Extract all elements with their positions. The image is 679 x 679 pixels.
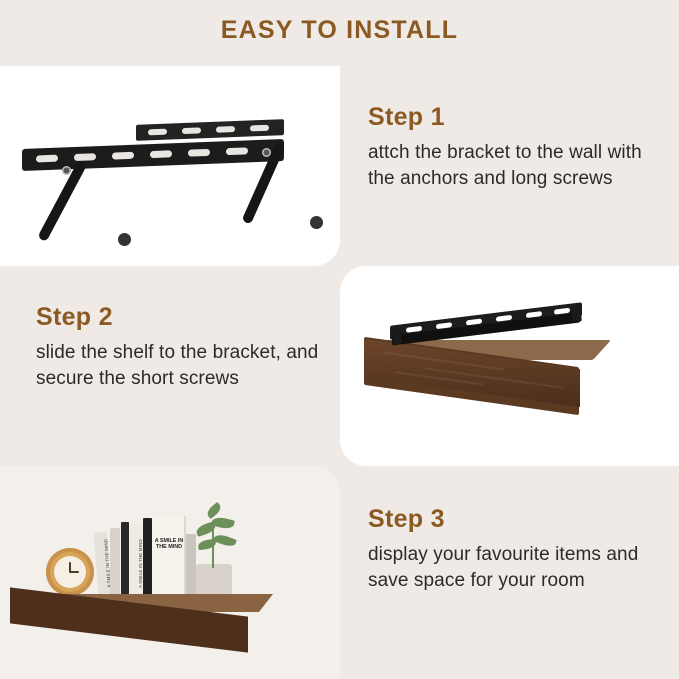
- step-1-heading: Step 1: [368, 103, 663, 132]
- bracket-arm-cap-left: [118, 233, 131, 246]
- step-3-image: A SMILE IN THE MIND A SMILE IN THE MIND …: [0, 466, 340, 679]
- plant-leaf-4: [213, 533, 237, 549]
- bracket-upper-rail: [136, 119, 284, 141]
- book-2: [110, 528, 120, 596]
- bracket-main-rail: [22, 139, 284, 171]
- step-2-heading: Step 2: [36, 303, 326, 332]
- bracket-arm-cap-right: [310, 216, 323, 229]
- infographic-page: EASY TO INSTALL: [0, 0, 679, 679]
- step-3-body: display your favourite items and save sp…: [368, 542, 668, 594]
- step-2-text: Step 2 slide the shelf to the bracket, a…: [36, 303, 326, 392]
- book-3: [121, 522, 129, 596]
- bracket-tab-right: [571, 306, 582, 323]
- bookend: [186, 534, 196, 596]
- step-2-body: slide the shelf to the bracket, and secu…: [36, 340, 326, 392]
- book-4: A SMILE IN THE MIND: [130, 524, 142, 596]
- step-3-text: Step 3 display your favourite items and …: [368, 505, 668, 594]
- table-clock: [46, 548, 94, 596]
- step-3-heading: Step 3: [368, 505, 668, 534]
- page-title: EASY TO INSTALL: [0, 16, 679, 45]
- clock-face: [54, 556, 86, 588]
- book-5: [143, 518, 152, 596]
- book-1: A SMILE IN THE MIND: [94, 532, 111, 597]
- bracket-tab-left: [391, 328, 402, 345]
- step-1-body: attch the bracket to the wall with the a…: [368, 140, 663, 192]
- shelf-with-bracket-illustration: [340, 266, 679, 466]
- step-1-text: Step 1 attch the bracket to the wall wit…: [368, 103, 663, 192]
- wall-bracket-illustration: [0, 66, 340, 266]
- step-2-image: [340, 266, 679, 466]
- book-6-front: A SMILE IN THE MIND: [152, 516, 186, 596]
- plant-leaf-5: [205, 502, 223, 519]
- styled-shelf-illustration: A SMILE IN THE MIND A SMILE IN THE MIND …: [0, 466, 340, 679]
- step-1-image: [0, 66, 340, 266]
- plant-pot: [196, 564, 232, 598]
